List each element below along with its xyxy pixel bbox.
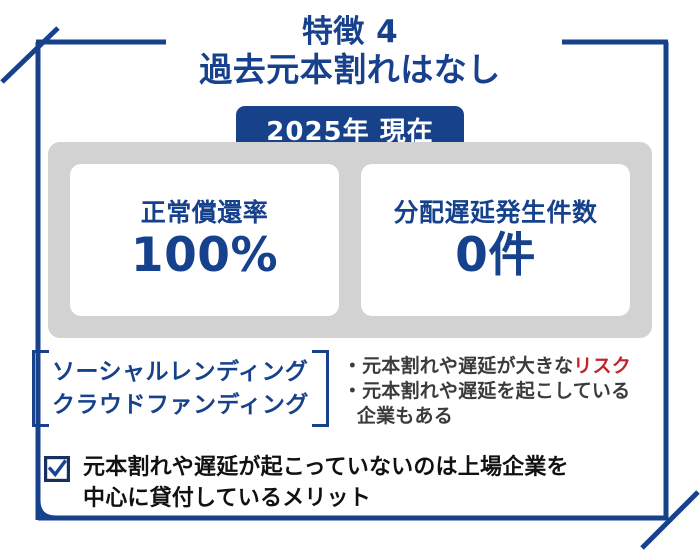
infographic-root: 特徴 4 過去元本割れはなし 2025年 現在 正常償還率 100% 分配遅延発… <box>0 0 700 560</box>
bullet-text: 元本割れや遅延を起こしている <box>362 380 630 402</box>
bullet-marker: ・ <box>343 380 362 402</box>
stat-value: 0件 <box>455 231 536 282</box>
bullet-text-continuation: 企業もある <box>343 404 675 429</box>
stat-label: 正常償還率 <box>141 193 269 229</box>
stats-panel: 正常償還率 100% 分配遅延発生件数 0件 <box>48 142 652 338</box>
bullet-highlight: リスク <box>573 355 631 377</box>
checked-checkbox-icon <box>44 456 70 482</box>
bullet-text: 元本割れや遅延が大きな <box>362 355 573 377</box>
conclusion-text: 元本割れや遅延が起こっていないのは上場企業を 中心に貸付しているメリット <box>83 452 569 514</box>
conclusion-line-1: 元本割れや遅延が起こっていないのは上場企業を <box>83 452 569 483</box>
feature-label: 特徴 4 <box>0 14 700 51</box>
bracket-group: ソーシャルレンディング クラウドファンディング <box>30 350 331 427</box>
page-title: 特徴 4 過去元本割れはなし <box>0 14 700 90</box>
stat-card: 分配遅延発生件数 0件 <box>361 164 630 316</box>
stat-card: 正常償還率 100% <box>70 164 339 316</box>
stat-label: 分配遅延発生件数 <box>393 193 597 229</box>
bullet-list: ・元本割れや遅延が大きなリスク ・元本割れや遅延を起こしている 企業もある <box>343 350 675 429</box>
comparison-row: ソーシャルレンディング クラウドファンディング ・元本割れや遅延が大きなリスク … <box>30 350 675 429</box>
conclusion-row: 元本割れや遅延が起こっていないのは上場企業を 中心に貸付しているメリット <box>44 452 664 514</box>
bracket-line-2: クラウドファンディング <box>52 389 309 422</box>
bullet-marker: ・ <box>343 355 362 377</box>
stat-value: 100% <box>131 231 278 282</box>
conclusion-line-2: 中心に貸付しているメリット <box>83 483 569 514</box>
bracket-line-1: ソーシャルレンディング <box>52 356 309 389</box>
list-item: ・元本割れや遅延が大きなリスク <box>343 354 675 379</box>
headline: 過去元本割れはなし <box>0 51 700 90</box>
list-item: ・元本割れや遅延を起こしている 企業もある <box>343 379 675 429</box>
